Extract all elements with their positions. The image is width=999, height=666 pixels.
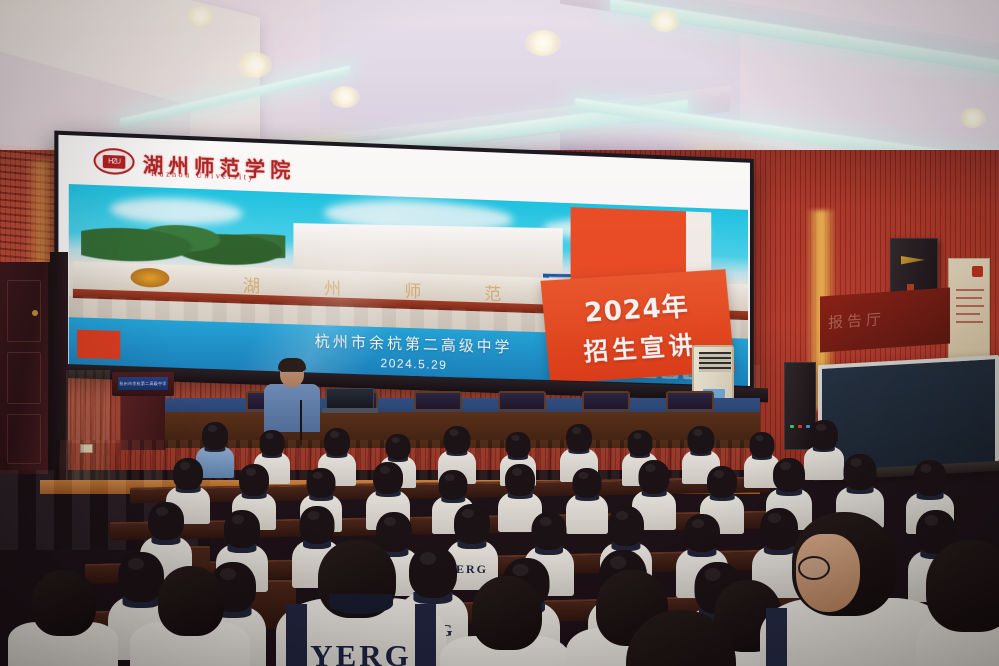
student-head <box>608 506 644 546</box>
ceiling-downlight-icon <box>238 52 272 78</box>
hair-highlight <box>180 462 190 470</box>
audience-area: ERG <box>0 420 999 666</box>
uniform-stripe-left <box>286 604 306 666</box>
hair-highlight <box>780 462 791 470</box>
hair-highlight <box>816 424 826 431</box>
student-head <box>324 428 350 456</box>
uniform-stripe-left <box>766 608 787 666</box>
hair-highlight <box>512 468 522 476</box>
wall-char: 师 <box>404 276 423 302</box>
student-head <box>439 470 468 500</box>
foreground-student <box>916 540 999 666</box>
hair-highlight <box>633 433 642 439</box>
hall-name-text: 报告厅 <box>828 308 885 333</box>
laptop-keyboard <box>322 408 378 413</box>
presenter-hair <box>278 358 306 371</box>
student-head <box>173 458 203 490</box>
student-head <box>224 510 260 548</box>
student-head <box>914 460 947 496</box>
university-logo-mark: HZU <box>103 154 126 168</box>
hair-highlight <box>265 433 274 439</box>
student-head <box>750 432 775 458</box>
university-logo-icon: HZU <box>94 147 135 175</box>
student-head <box>684 514 720 552</box>
student-head <box>444 426 471 454</box>
student-head <box>373 462 403 494</box>
speaker-cone-icon <box>901 256 925 270</box>
student-head <box>628 430 653 456</box>
poster-text-line <box>956 305 984 307</box>
hair-highlight <box>645 464 656 472</box>
ceiling-downlight-icon <box>330 86 360 108</box>
presenter-laptop <box>322 388 378 414</box>
slide-red-chip <box>77 330 120 360</box>
wall-char: 范 <box>484 279 503 305</box>
auditorium-photo: HZU 湖州师范学院 Huzhou University <box>0 0 999 666</box>
hair-highlight <box>445 474 455 481</box>
ceiling-downlight-icon <box>960 108 986 128</box>
student-head <box>566 424 592 452</box>
student-head <box>300 506 335 544</box>
hair-highlight <box>692 519 704 528</box>
student-head <box>639 460 670 494</box>
hair-highlight <box>572 427 581 434</box>
ac-vent-icon <box>699 352 731 372</box>
stage-chair <box>666 391 714 411</box>
hair-highlight <box>330 431 339 438</box>
hair-highlight <box>705 568 721 580</box>
hair-highlight <box>384 517 396 527</box>
poster-text-line <box>956 313 980 315</box>
door-panel <box>7 352 41 404</box>
stage-chair <box>498 391 546 411</box>
hair-highlight <box>851 458 862 467</box>
student-head <box>707 466 737 498</box>
student-head <box>202 422 228 450</box>
banner-title: 招生宣讲 <box>582 326 698 369</box>
foreground-student <box>130 566 250 666</box>
door-knob-icon[interactable] <box>32 310 38 316</box>
lectern-name-plate: 杭州市余杭第二高级中学 <box>118 377 168 390</box>
student-head <box>505 464 535 496</box>
uniform-collar <box>329 594 393 614</box>
hair-highlight <box>156 507 168 516</box>
hair-highlight <box>513 564 529 576</box>
hair-highlight <box>208 425 217 432</box>
student-head <box>32 570 96 636</box>
foreground-student <box>8 570 118 666</box>
hair-highlight <box>693 429 702 436</box>
hair-highlight <box>755 435 764 441</box>
banner-year: 2024年 <box>582 285 690 330</box>
hair-highlight <box>511 435 520 441</box>
hair-highlight <box>714 470 724 478</box>
glasses-icon <box>798 556 830 580</box>
stage-chair <box>582 391 630 411</box>
student-head <box>158 566 224 636</box>
student-head <box>688 426 715 454</box>
wall-poster <box>948 258 990 366</box>
poster-seal-icon <box>972 266 983 277</box>
foreground-student <box>626 610 746 666</box>
presentation-slide: HZU 湖州师范学院 Huzhou University <box>58 135 750 386</box>
student-head <box>239 464 269 496</box>
student-head <box>773 458 805 492</box>
hair-highlight <box>380 466 390 474</box>
hair-highlight <box>610 556 626 569</box>
led-screen: HZU 湖州师范学院 Huzhou University <box>54 131 754 390</box>
student-head <box>810 420 838 450</box>
wall-char: 湖 <box>243 271 262 297</box>
hair-highlight <box>246 468 256 476</box>
slide-school-name: 杭州市余杭第二高级中学 <box>315 330 513 357</box>
student-head <box>454 504 490 544</box>
student-head <box>506 432 531 458</box>
student-head <box>260 430 285 456</box>
hair-highlight <box>462 509 474 519</box>
hair-highlight <box>449 429 458 436</box>
poster-text-line <box>956 289 984 291</box>
student-head <box>844 454 877 490</box>
slide-date: 2024.5.29 <box>381 356 448 372</box>
ceiling-downlight-icon <box>525 30 561 56</box>
student-head <box>532 512 567 550</box>
hair-highlight <box>921 464 932 473</box>
hair-highlight <box>616 511 628 521</box>
hair-highlight <box>307 511 319 520</box>
foreground-student <box>440 576 570 666</box>
ceiling-downlight-icon <box>650 10 680 32</box>
student-head <box>148 502 184 540</box>
presenter-glasses-icon <box>281 371 303 376</box>
student-head <box>626 610 736 666</box>
student-head <box>573 468 602 498</box>
hair-highlight <box>539 517 551 526</box>
uniform-back-text: YERG <box>310 638 412 666</box>
hall-name-sign: 报告厅 <box>820 287 950 352</box>
hair-highlight <box>232 515 244 524</box>
poster-text-line <box>956 321 983 323</box>
student-head <box>386 434 411 460</box>
hair-highlight <box>313 472 323 479</box>
wall-char: 州 <box>324 274 343 300</box>
student-head <box>472 576 542 650</box>
foreground-student-yerg: YERG <box>276 540 446 666</box>
laptop-screen <box>326 388 374 409</box>
lectern-top: 杭州市余杭第二高级中学 <box>112 372 174 396</box>
student-head <box>926 540 999 632</box>
stage-chair <box>414 391 462 411</box>
uniform-stripe-right <box>415 604 435 666</box>
poster-text-line <box>956 297 982 299</box>
hair-highlight <box>391 437 400 443</box>
student-head <box>307 468 336 498</box>
ceiling-downlight-icon <box>188 6 214 26</box>
hair-highlight <box>579 472 589 479</box>
